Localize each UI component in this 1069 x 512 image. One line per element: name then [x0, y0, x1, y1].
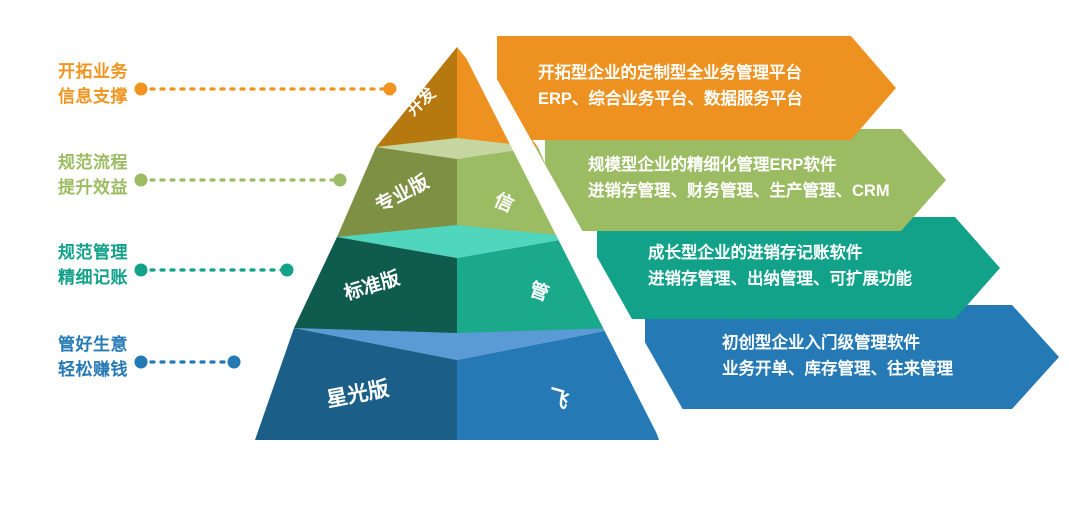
- infographic-canvas: 开拓业务 信息支撑 规范流程 提升效益 规范管理 精细记账 管好生意 轻松赚钱 …: [0, 0, 1069, 512]
- connector-tier-3: [135, 264, 294, 277]
- left-label-tier-3-line1: 规范管理: [58, 241, 128, 266]
- left-label-tier-1-line1: 开拓业务: [58, 60, 128, 85]
- left-label-tier-4-line1: 管好生意: [58, 333, 128, 358]
- connector-dot-left-3: [135, 264, 148, 277]
- banner-starlight-line2: 业务开单、库存管理、往来管理: [722, 356, 953, 382]
- left-label-tier-4-line2: 轻松赚钱: [58, 358, 128, 383]
- left-label-tier-3-line2: 精细记账: [58, 266, 128, 291]
- banner-professional-text: 规模型企业的精细化管理ERP软件 进销存管理、财务管理、生产管理、CRM: [588, 152, 890, 205]
- banner-custom-line1: 开拓型企业的定制型全业务管理平台: [538, 60, 803, 86]
- banner-professional-line1: 规模型企业的精细化管理ERP软件: [588, 152, 890, 178]
- left-label-tier-1: 开拓业务 信息支撑: [58, 60, 128, 109]
- left-label-tier-2-line2: 提升效益: [58, 176, 128, 201]
- connector-dot-left-2: [135, 174, 148, 187]
- connector-dot-right-3: [281, 264, 294, 277]
- banner-starlight-line1: 初创型企业入门级管理软件: [722, 330, 953, 356]
- left-label-tier-3: 规范管理 精细记账: [58, 241, 128, 290]
- banner-standard-line2: 进销存管理、出纳管理、可扩展功能: [648, 266, 912, 292]
- banner-standard-text: 成长型企业的进销存记账软件 进销存管理、出纳管理、可扩展功能: [648, 240, 912, 293]
- connector-dot-left-1: [135, 83, 148, 96]
- banner-starlight-text: 初创型企业入门级管理软件 业务开单、库存管理、往来管理: [722, 330, 953, 383]
- banner-custom-text: 开拓型企业的定制型全业务管理平台 ERP、综合业务平台、数据服务平台: [538, 60, 803, 113]
- left-label-tier-2: 规范流程 提升效益: [58, 151, 128, 200]
- left-label-tier-4: 管好生意 轻松赚钱: [58, 333, 128, 382]
- left-label-tier-1-line2: 信息支撑: [58, 85, 128, 110]
- connector-dot-right-4: [228, 356, 241, 369]
- connector-tier-1: [135, 83, 397, 96]
- banner-standard-line1: 成长型企业的进销存记账软件: [648, 240, 912, 266]
- banner-professional-line2: 进销存管理、财务管理、生产管理、CRM: [588, 178, 890, 204]
- connector-tier-2: [135, 174, 347, 187]
- left-label-tier-2-line1: 规范流程: [58, 151, 128, 176]
- connector-dot-left-4: [135, 356, 148, 369]
- banner-custom-line2: ERP、综合业务平台、数据服务平台: [538, 86, 803, 112]
- connector-dot-right-2: [334, 174, 347, 187]
- connector-tier-4: [135, 356, 241, 369]
